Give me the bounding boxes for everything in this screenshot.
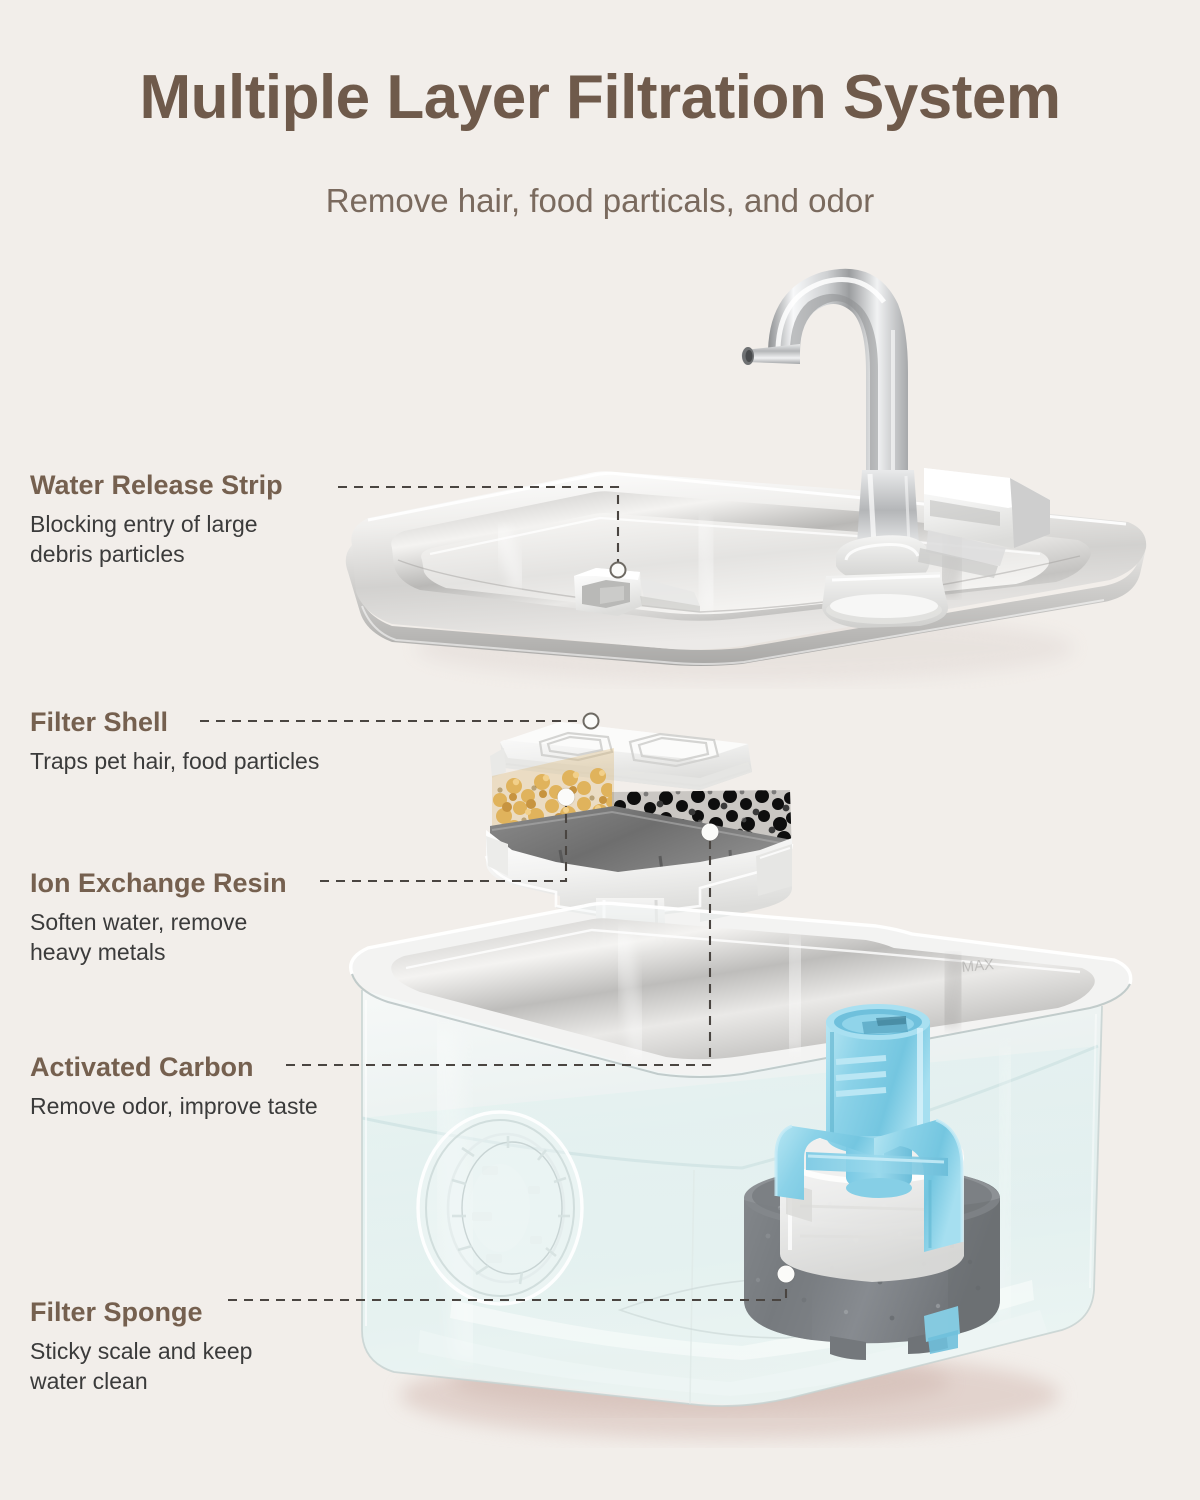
filter-cartridge-gray-tray	[490, 806, 792, 886]
callout-description: Blocking entry of large debris particles	[30, 509, 283, 570]
callout-title: Activated Carbon	[30, 1052, 318, 1083]
circular-tank-cap	[418, 1112, 582, 1304]
filter-shell-lid	[490, 722, 752, 790]
marker-water-release-strip	[610, 562, 627, 579]
callout-title: Water Release Strip	[30, 470, 283, 501]
water-release-strip	[574, 568, 700, 616]
callout-description: Sticky scale and keep water clean	[30, 1336, 252, 1397]
tank-level-marking: MAX	[961, 956, 995, 976]
activated-carbon-granules	[610, 786, 798, 861]
marker-filter-sponge	[778, 1266, 795, 1283]
callout-title: Filter Sponge	[30, 1297, 252, 1328]
marker-ion-exchange-resin	[558, 789, 575, 806]
callout-title: Ion Exchange Resin	[30, 868, 287, 899]
blue-pump-assembly	[776, 1004, 964, 1354]
callout-filter-shell: Filter Shell Traps pet hair, food partic…	[30, 707, 319, 776]
filter-cartridge-body	[486, 830, 792, 958]
callout-description: Soften water, remove heavy metals	[30, 907, 287, 968]
callout-description: Traps pet hair, food particles	[30, 746, 319, 776]
page-title: Multiple Layer Filtration System	[0, 62, 1200, 133]
page-subtitle: Remove hair, food particals, and odor	[0, 182, 1200, 220]
callout-activated-carbon: Activated Carbon Remove odor, improve ta…	[30, 1052, 318, 1121]
callout-title: Filter Shell	[30, 707, 319, 738]
marker-filter-shell	[583, 713, 600, 730]
infographic-page: Multiple Layer Filtration System Remove …	[0, 0, 1200, 1500]
chrome-faucet-spout	[741, 269, 1050, 628]
ion-exchange-resin-granules	[491, 748, 618, 853]
callout-description: Remove odor, improve taste	[30, 1091, 318, 1121]
callout-water-release-strip: Water Release Strip Blocking entry of la…	[30, 470, 283, 570]
callout-filter-sponge: Filter Sponge Sticky scale and keep wate…	[30, 1297, 252, 1397]
transparent-water-tank: MAX	[351, 903, 1131, 1439]
svg-text:MAX: MAX	[961, 956, 995, 976]
marker-activated-carbon	[702, 824, 719, 841]
stainless-steel-top-tray	[346, 471, 1146, 682]
gray-filter-sponge	[744, 1166, 1000, 1360]
callout-ion-exchange-resin: Ion Exchange Resin Soften water, remove …	[30, 868, 287, 968]
leader-lines	[200, 487, 786, 1300]
